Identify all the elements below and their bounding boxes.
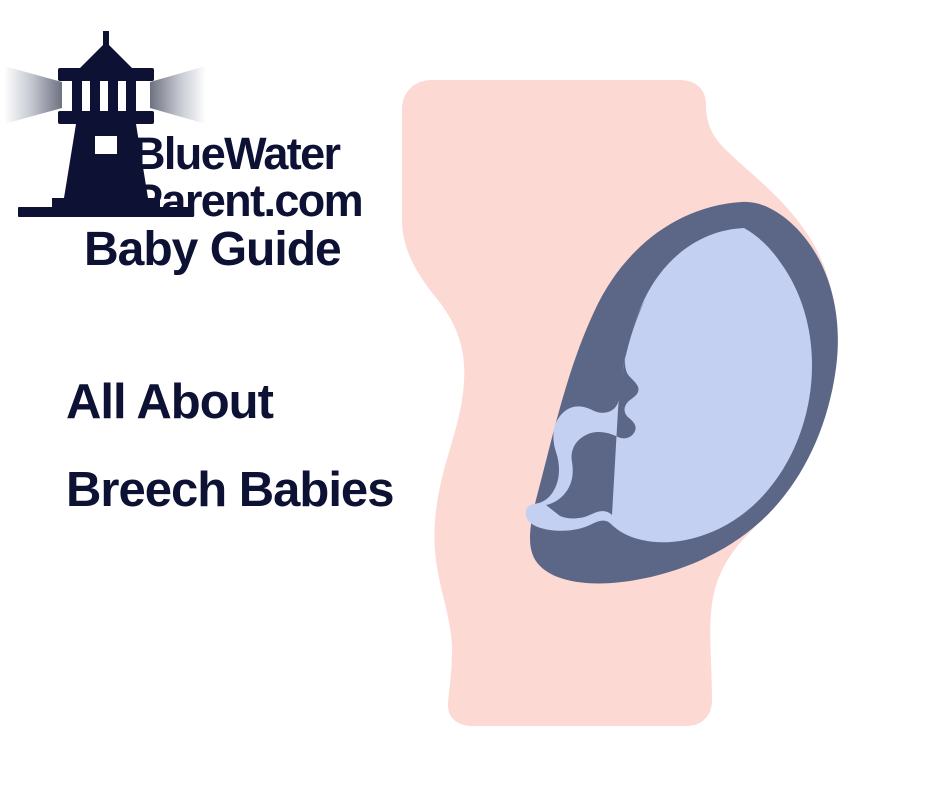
lighthouse-beam-right-icon [150, 66, 206, 124]
baby-guide-subtitle: Baby Guide [84, 222, 341, 278]
brand-logo-block: BlueWater Parent.com [0, 28, 440, 218]
poster-canvas: BlueWater Parent.com Baby Guide All Abou… [0, 0, 940, 788]
page-title: All About Breech Babies [66, 358, 466, 534]
headline-line-2: Breech Babies [66, 446, 466, 534]
brand-line-parentcom: Parent.com [133, 177, 433, 225]
brand-line-bluewater: BlueWater [133, 131, 433, 177]
lighthouse-beam-left-icon [4, 66, 62, 124]
brand-wordmark: BlueWater Parent.com [133, 131, 433, 231]
headline-line-1: All About [66, 358, 466, 446]
